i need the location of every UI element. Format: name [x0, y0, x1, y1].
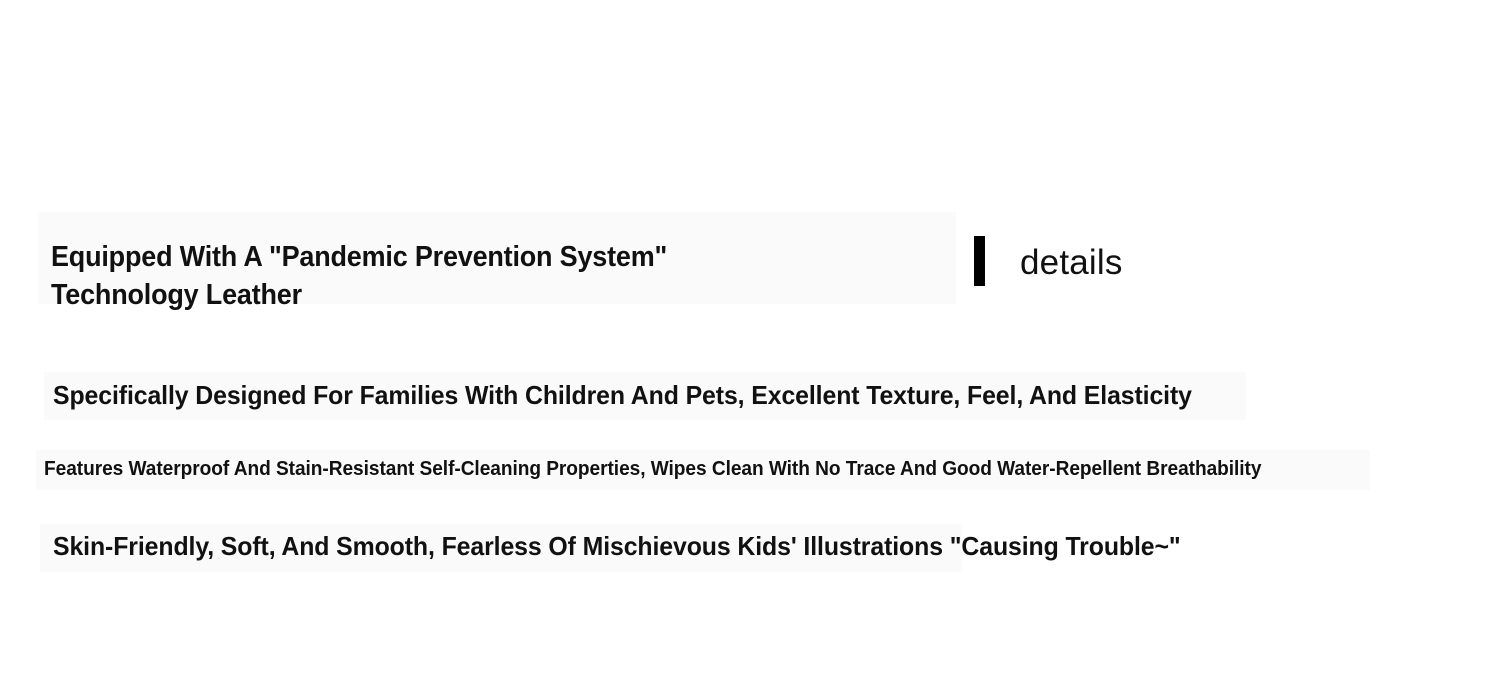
feature-text-line: Skin-Friendly, Soft, And Smooth, Fearles… — [53, 529, 1181, 563]
feature-text-line: Specifically Designed For Families With … — [53, 378, 1192, 412]
product-detail-banner: Equipped With A "Pandemic Prevention Sys… — [0, 0, 1500, 673]
page-title: Equipped With A "Pandemic Prevention Sys… — [51, 238, 888, 314]
feature-text-line: Features Waterproof And Stain-Resistant … — [44, 455, 1261, 483]
vertical-bar-icon — [974, 236, 985, 286]
details-section-label: details — [1020, 240, 1123, 286]
